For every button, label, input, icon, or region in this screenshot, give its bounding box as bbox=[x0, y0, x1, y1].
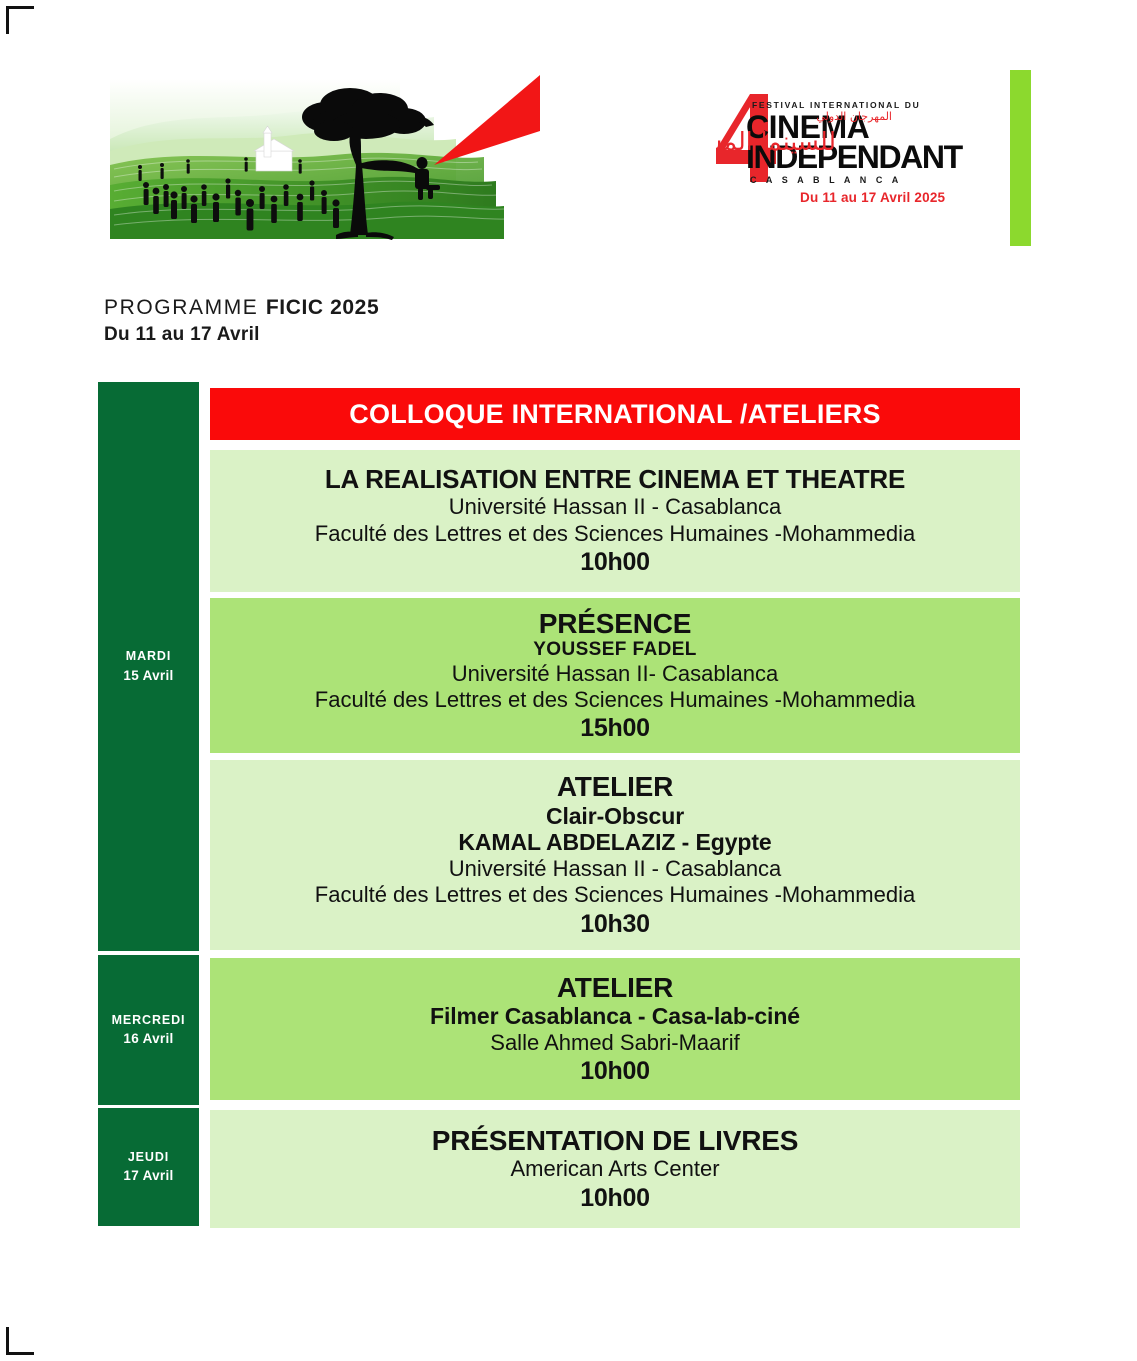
session-place-1: Université Hassan II- Casablanca bbox=[452, 661, 778, 687]
festival-artwork bbox=[104, 69, 545, 245]
session-time: 15h00 bbox=[580, 713, 649, 743]
page-subtitle: Du 11 au 17 Avril bbox=[104, 324, 260, 346]
session-subtitle: YOUSSEF FADEL bbox=[533, 639, 697, 661]
day-cell-mardi: MARDI 15 Avril bbox=[98, 382, 199, 951]
day-date: 17 Avril bbox=[123, 1166, 173, 1186]
session-place-2: Faculté des Lettres et des Sciences Huma… bbox=[315, 521, 915, 547]
session-subtitle: Filmer Casablanca - Casa-lab-ciné bbox=[430, 1003, 800, 1029]
session-row[interactable]: ATELIER Clair-Obscur KAMAL ABDELAZIZ - E… bbox=[210, 760, 1020, 950]
svg-text:Du 11 au 17 Avril 2025: Du 11 au 17 Avril 2025 bbox=[800, 190, 946, 205]
festival-logo: FESTIVAL INTERNATIONAL DU CINEMA INDEPEN… bbox=[716, 88, 982, 208]
page-title: PROGRAMME FICIC 2025 bbox=[104, 296, 379, 320]
svg-text:المهرجان الدولي: المهرجان الدولي bbox=[816, 110, 892, 123]
section-banner-label: COLLOQUE INTERNATIONAL /ATELIERS bbox=[349, 399, 880, 430]
session-subtitle: Clair-Obscur bbox=[546, 803, 684, 829]
session-place-1: Salle Ahmed Sabri-Maarif bbox=[490, 1030, 739, 1056]
crop-mark-bottom-left bbox=[6, 1327, 34, 1355]
section-banner: COLLOQUE INTERNATIONAL /ATELIERS bbox=[210, 388, 1020, 440]
accent-bar bbox=[1010, 70, 1031, 246]
session-place-2: Faculté des Lettres et des Sciences Huma… bbox=[315, 687, 915, 713]
page-header: FESTIVAL INTERNATIONAL DU CINEMA INDEPEN… bbox=[0, 0, 1137, 270]
day-name: MERCREDI bbox=[112, 1011, 186, 1030]
session-title: LA REALISATION ENTRE CINEMA ET THEATRE bbox=[325, 465, 905, 494]
session-time: 10h00 bbox=[580, 1183, 649, 1213]
session-place-1: Université Hassan II - Casablanca bbox=[449, 856, 782, 882]
day-name: MARDI bbox=[126, 647, 171, 666]
programme-label: PROGRAMME bbox=[104, 296, 266, 319]
session-row[interactable]: PRÉSENCE YOUSSEF FADEL Université Hassan… bbox=[210, 598, 1020, 753]
day-name: JEUDI bbox=[128, 1148, 169, 1167]
day-cell-jeudi: JEUDI 17 Avril bbox=[98, 1108, 199, 1226]
day-date: 16 Avril bbox=[123, 1029, 173, 1049]
session-time: 10h00 bbox=[580, 1056, 649, 1086]
session-place-2: Faculté des Lettres et des Sciences Huma… bbox=[315, 882, 915, 908]
day-cell-mercredi: MERCREDI 16 Avril bbox=[98, 955, 199, 1105]
svg-text:للسينما المستقلة: للسينما المستقلة bbox=[716, 127, 836, 156]
session-presenter: KAMAL ABDELAZIZ - Egypte bbox=[458, 829, 771, 855]
session-title: PRÉSENTATION DE LIVRES bbox=[432, 1125, 798, 1156]
session-row[interactable]: LA REALISATION ENTRE CINEMA ET THEATRE U… bbox=[210, 450, 1020, 592]
session-row[interactable]: ATELIER Filmer Casablanca - Casa-lab-cin… bbox=[210, 958, 1020, 1100]
session-time: 10h30 bbox=[580, 909, 649, 939]
programme-edition: FICIC 2025 bbox=[266, 296, 379, 319]
session-row[interactable]: PRÉSENTATION DE LIVRES American Arts Cen… bbox=[210, 1110, 1020, 1228]
session-time: 10h00 bbox=[580, 547, 649, 577]
svg-text:C A S A B L A N C A: C A S A B L A N C A bbox=[750, 175, 902, 185]
session-title: ATELIER bbox=[557, 972, 673, 1003]
day-date: 15 Avril bbox=[123, 666, 173, 686]
session-title: ATELIER bbox=[557, 771, 673, 802]
session-title: PRÉSENCE bbox=[539, 608, 691, 639]
session-place-1: Université Hassan II - Casablanca bbox=[449, 494, 782, 520]
session-place-1: American Arts Center bbox=[510, 1156, 719, 1182]
